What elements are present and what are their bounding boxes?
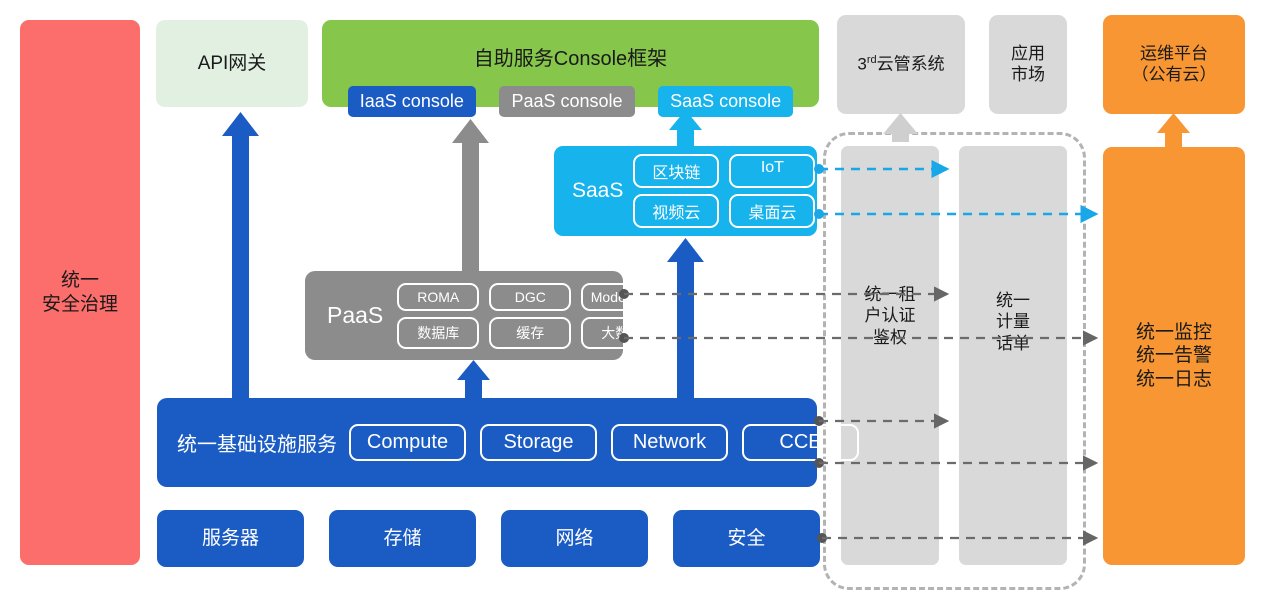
- paas-pill-modelarts[interactable]: ModelArts: [581, 283, 663, 311]
- ops-platform-body-panel[interactable]: 统一监控 统一告警 统一日志: [1103, 147, 1245, 565]
- paas-box[interactable]: PaaS ROMA DGC ModelArts 数据库 缓存 大数据: [305, 271, 623, 360]
- shared-service-column-auth[interactable]: [841, 146, 939, 565]
- third-party-sup: rd: [867, 54, 877, 66]
- arrow-ops-body-to-header: [1157, 113, 1190, 148]
- app-market-line2: 市场: [1011, 65, 1045, 86]
- security-governance-label: 统一 安全治理: [42, 269, 118, 315]
- third-party-suffix: 云管系统: [877, 54, 945, 73]
- infrastructure-pill-row: Compute Storage Network CCE: [349, 424, 859, 461]
- ops-platform-header-label: 运维平台 （公有云）: [1132, 44, 1217, 85]
- chip-iaas-console[interactable]: IaaS console: [348, 86, 476, 117]
- paas-label: PaaS: [327, 302, 383, 329]
- paas-pill-database[interactable]: 数据库: [397, 317, 479, 349]
- metering-line3: 话单: [959, 333, 1067, 354]
- hardware-label-security: 安全: [727, 527, 765, 550]
- unified-infrastructure-box[interactable]: 统一基础设施服务 Compute Storage Network CCE: [157, 398, 817, 487]
- hardware-label-network: 网络: [555, 527, 593, 550]
- chip-paas-console[interactable]: PaaS console: [499, 86, 634, 117]
- arrow-infra-to-api-gateway: [222, 112, 259, 398]
- ops-platform-header-line1: 运维平台: [1132, 44, 1217, 65]
- security-governance-line2: 安全治理: [42, 293, 118, 316]
- api-gateway-box[interactable]: API网关: [156, 20, 308, 107]
- infra-pill-compute[interactable]: Compute: [349, 424, 466, 461]
- third-party-cloud-mgmt-box[interactable]: 3rd云管系统: [837, 15, 965, 114]
- saas-pill-desktop-cloud[interactable]: 桌面云: [729, 194, 815, 228]
- third-party-cloud-mgmt-label: 3rd云管系统: [857, 54, 944, 75]
- saas-pill-blockchain[interactable]: 区块链: [633, 154, 719, 188]
- metering-line1: 统一: [959, 290, 1067, 311]
- ops-platform-header-line2: （公有云）: [1132, 65, 1217, 86]
- arrow-infra-to-saas: [667, 238, 704, 398]
- paas-pill-roma[interactable]: ROMA: [397, 283, 479, 311]
- app-market-box[interactable]: 应用 市场: [989, 15, 1067, 114]
- console-chip-row: IaaS console PaaS console SaaS console: [322, 86, 819, 117]
- architecture-diagram: 统一 安全治理 API网关 自助服务Console框架 IaaS console…: [0, 0, 1265, 605]
- auth-line1: 统一租: [841, 284, 939, 305]
- hardware-box-network[interactable]: 网络: [501, 510, 648, 567]
- arrow-infra-to-paas: [457, 360, 490, 398]
- shared-service-column-metering[interactable]: [959, 146, 1067, 565]
- hardware-box-storage[interactable]: 存储: [329, 510, 476, 567]
- third-party-prefix: 3: [857, 54, 866, 73]
- infra-pill-network[interactable]: Network: [611, 424, 728, 461]
- ops-body-line1: 统一监控: [1136, 321, 1212, 344]
- hardware-label-server: 服务器: [202, 527, 259, 550]
- shared-service-auth-label: 统一租 户认证 鉴权: [841, 284, 939, 348]
- security-governance-line1: 统一: [42, 269, 118, 292]
- arrow-paas-to-console: [452, 119, 489, 271]
- infra-pill-cce[interactable]: CCE: [742, 424, 859, 461]
- infra-pill-storage[interactable]: Storage: [480, 424, 597, 461]
- infrastructure-label: 统一基础设施服务: [177, 428, 337, 457]
- auth-line2: 户认证: [841, 305, 939, 326]
- hardware-box-security[interactable]: 安全: [673, 510, 820, 567]
- chip-saas-console[interactable]: SaaS console: [658, 86, 793, 117]
- console-frame-title: 自助服务Console框架: [322, 42, 819, 71]
- paas-pill-dgc[interactable]: DGC: [489, 283, 571, 311]
- paas-pill-cache[interactable]: 缓存: [489, 317, 571, 349]
- saas-label: SaaS: [572, 179, 623, 203]
- app-market-label: 应用 市场: [1011, 44, 1045, 85]
- ops-platform-header-box[interactable]: 运维平台 （公有云）: [1103, 15, 1245, 114]
- self-service-console-frame[interactable]: 自助服务Console框架 IaaS console PaaS console …: [322, 20, 819, 107]
- saas-pill-video-cloud[interactable]: 视频云: [633, 194, 719, 228]
- ops-platform-body-label: 统一监控 统一告警 统一日志: [1136, 321, 1212, 391]
- paas-pill-bigdata[interactable]: 大数据: [581, 317, 663, 349]
- ops-body-line2: 统一告警: [1136, 344, 1212, 367]
- security-governance-panel[interactable]: 统一 安全治理: [20, 20, 140, 565]
- paas-pill-grid: ROMA DGC ModelArts 数据库 缓存 大数据: [397, 283, 663, 349]
- saas-pill-iot[interactable]: IoT: [729, 154, 815, 188]
- hardware-box-server[interactable]: 服务器: [157, 510, 304, 567]
- ops-body-line3: 统一日志: [1136, 368, 1212, 391]
- metering-line2: 计量: [959, 311, 1067, 332]
- saas-box[interactable]: SaaS 区块链 IoT 视频云 桌面云: [554, 146, 817, 236]
- app-market-line1: 应用: [1011, 44, 1045, 65]
- hardware-label-storage: 存储: [383, 527, 421, 550]
- saas-pill-grid: 区块链 IoT 视频云 桌面云: [633, 154, 815, 228]
- auth-line3: 鉴权: [841, 327, 939, 348]
- api-gateway-label: API网关: [198, 52, 267, 75]
- shared-service-metering-label: 统一 计量 话单: [959, 290, 1067, 354]
